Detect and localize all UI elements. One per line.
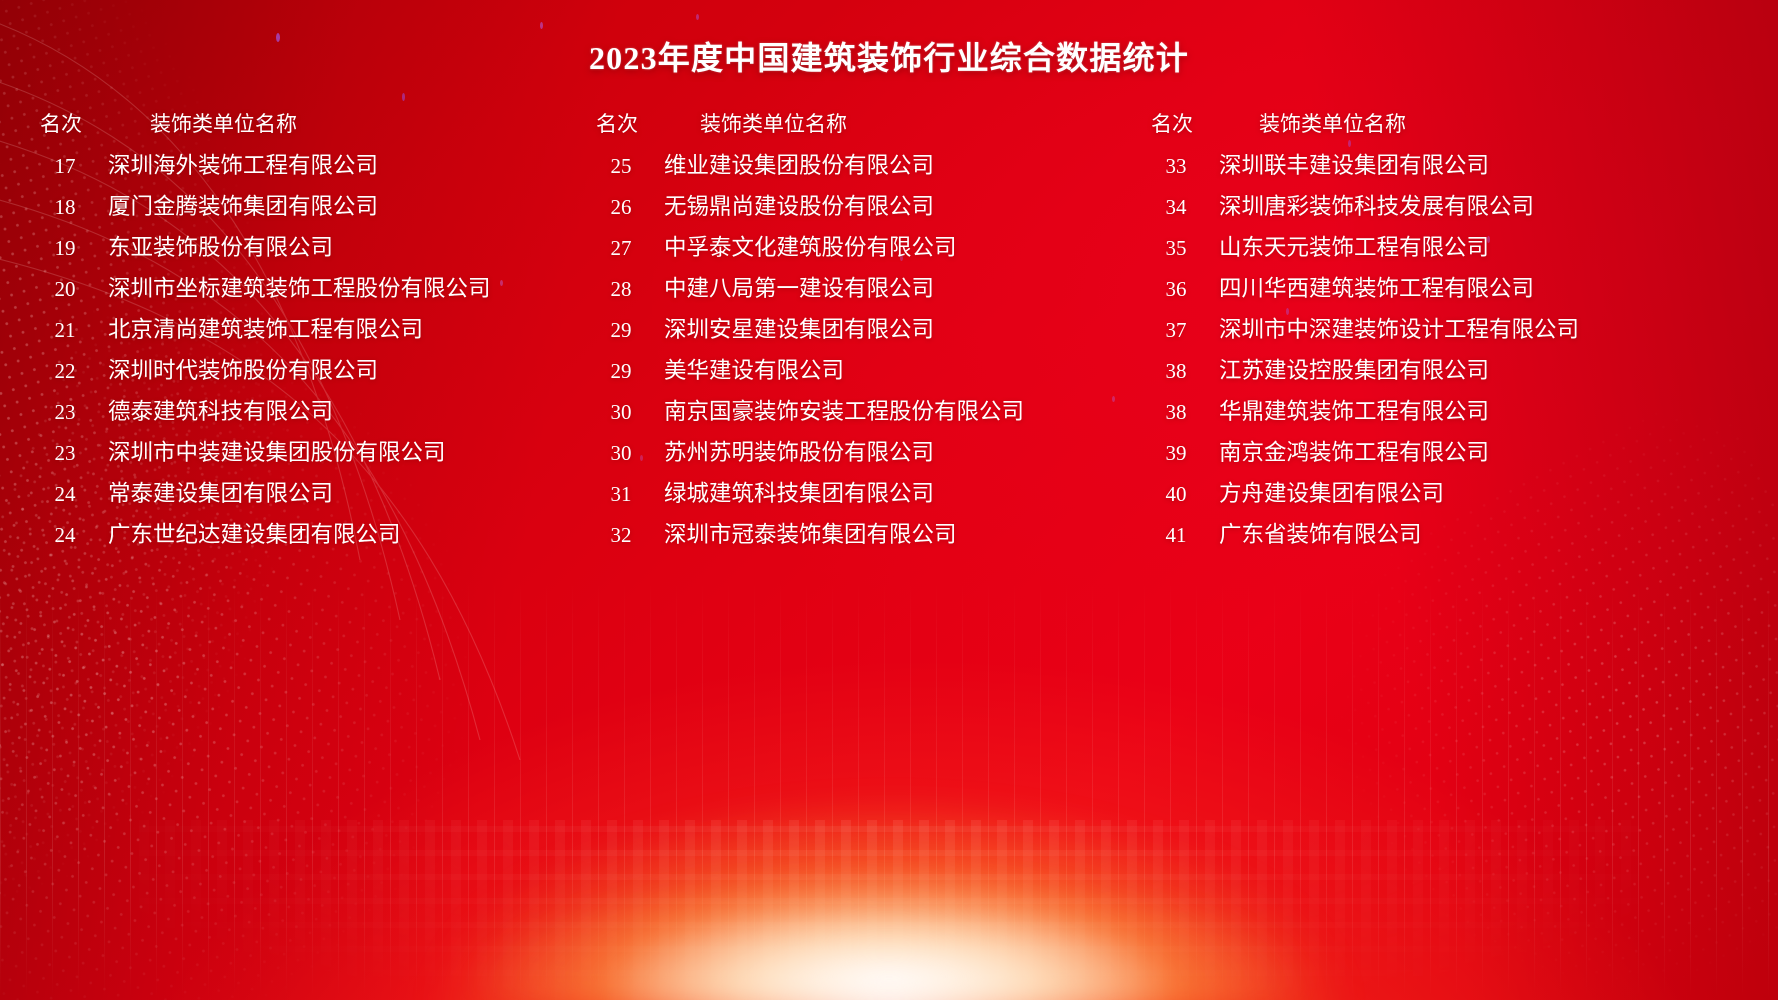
company-name: 方舟建设集团有限公司	[1219, 476, 1760, 508]
rank-value: 27	[590, 236, 664, 261]
rank-value: 23	[34, 400, 108, 425]
ranking-column-1: 名次 装饰类单位名称 17 深圳海外装饰工程有限公司 18 厦门金腾装饰集团有限…	[0, 108, 560, 558]
table-row: 23 深圳市中装建设集团股份有限公司	[34, 435, 560, 476]
rank-value: 18	[34, 195, 108, 220]
company-name: 深圳市中装建设集团股份有限公司	[108, 435, 560, 467]
rank-value: 20	[34, 277, 108, 302]
rank-value: 39	[1145, 441, 1219, 466]
table-row: 29 美华建设有限公司	[590, 353, 1120, 394]
table-row: 20 深圳市坐标建筑装饰工程股份有限公司	[34, 271, 560, 312]
rank-value: 32	[590, 523, 664, 548]
column-2-header: 名次 装饰类单位名称	[590, 108, 1120, 138]
column-3-header-rank: 名次	[1145, 108, 1219, 138]
company-name: 德泰建筑科技有限公司	[108, 394, 560, 426]
ranking-column-2: 名次 装饰类单位名称 25 维业建设集团股份有限公司 26 无锡鼎尚建设股份有限…	[560, 108, 1120, 558]
rank-value: 22	[34, 359, 108, 384]
table-row: 37 深圳市中深建装饰设计工程有限公司	[1145, 312, 1760, 353]
rank-value: 29	[590, 359, 664, 384]
rank-value: 30	[590, 441, 664, 466]
company-name: 绿城建筑科技集团有限公司	[664, 476, 1120, 508]
table-row: 24 广东世纪达建设集团有限公司	[34, 517, 560, 558]
table-row: 30 苏州苏明装饰股份有限公司	[590, 435, 1120, 476]
rank-value: 30	[590, 400, 664, 425]
company-name: 北京清尚建筑装饰工程有限公司	[108, 312, 560, 344]
table-row: 38 江苏建设控股集团有限公司	[1145, 353, 1760, 394]
table-row: 28 中建八局第一建设有限公司	[590, 271, 1120, 312]
rank-value: 33	[1145, 154, 1219, 179]
rank-value: 24	[34, 523, 108, 548]
rank-value: 31	[590, 482, 664, 507]
table-row: 17 深圳海外装饰工程有限公司	[34, 148, 560, 189]
company-name: 深圳海外装饰工程有限公司	[108, 148, 560, 180]
table-row: 25 维业建设集团股份有限公司	[590, 148, 1120, 189]
table-row: 26 无锡鼎尚建设股份有限公司	[590, 189, 1120, 230]
column-1-header-rank: 名次	[34, 108, 108, 138]
column-1-header-name: 装饰类单位名称	[108, 108, 560, 138]
company-name: 厦门金腾装饰集团有限公司	[108, 189, 560, 221]
rank-value: 34	[1145, 195, 1219, 220]
company-name: 中孚泰文化建筑股份有限公司	[664, 230, 1120, 262]
column-2-header-name: 装饰类单位名称	[664, 108, 1120, 138]
company-name: 广东省装饰有限公司	[1219, 517, 1760, 549]
rank-value: 25	[590, 154, 664, 179]
company-name: 深圳市坐标建筑装饰工程股份有限公司	[108, 271, 560, 303]
table-row: 35 山东天元装饰工程有限公司	[1145, 230, 1760, 271]
rank-value: 19	[34, 236, 108, 261]
table-row: 18 厦门金腾装饰集团有限公司	[34, 189, 560, 230]
table-row: 30 南京国豪装饰安装工程股份有限公司	[590, 394, 1120, 435]
rank-value: 26	[590, 195, 664, 220]
rank-value: 28	[590, 277, 664, 302]
ranking-column-3: 名次 装饰类单位名称 33 深圳联丰建设集团有限公司 34 深圳唐彩装饰科技发展…	[1120, 108, 1760, 558]
company-name: 南京金鸿装饰工程有限公司	[1219, 435, 1760, 467]
company-name: 江苏建设控股集团有限公司	[1219, 353, 1760, 385]
company-name: 广东世纪达建设集团有限公司	[108, 517, 560, 549]
rank-value: 38	[1145, 359, 1219, 384]
company-name: 深圳唐彩装饰科技发展有限公司	[1219, 189, 1760, 221]
table-row: 23 德泰建筑科技有限公司	[34, 394, 560, 435]
rank-value: 35	[1145, 236, 1219, 261]
company-name: 四川华西建筑装饰工程有限公司	[1219, 271, 1760, 303]
company-name: 维业建设集团股份有限公司	[664, 148, 1120, 180]
company-name: 无锡鼎尚建设股份有限公司	[664, 189, 1120, 221]
table-row: 29 深圳安星建设集团有限公司	[590, 312, 1120, 353]
company-name: 东亚装饰股份有限公司	[108, 230, 560, 262]
rank-value: 24	[34, 482, 108, 507]
company-name: 深圳市中深建装饰设计工程有限公司	[1219, 312, 1760, 344]
table-row: 31 绿城建筑科技集团有限公司	[590, 476, 1120, 517]
company-name: 华鼎建筑装饰工程有限公司	[1219, 394, 1760, 426]
table-row: 27 中孚泰文化建筑股份有限公司	[590, 230, 1120, 271]
column-1-header: 名次 装饰类单位名称	[34, 108, 560, 138]
company-name: 南京国豪装饰安装工程股份有限公司	[664, 394, 1120, 426]
column-2-header-rank: 名次	[590, 108, 664, 138]
table-row: 19 东亚装饰股份有限公司	[34, 230, 560, 271]
rank-value: 38	[1145, 400, 1219, 425]
rank-value: 37	[1145, 318, 1219, 343]
company-name: 中建八局第一建设有限公司	[664, 271, 1120, 303]
rank-value: 21	[34, 318, 108, 343]
company-name: 常泰建设集团有限公司	[108, 476, 560, 508]
rank-value: 29	[590, 318, 664, 343]
rank-value: 23	[34, 441, 108, 466]
company-name: 山东天元装饰工程有限公司	[1219, 230, 1760, 262]
table-row: 38 华鼎建筑装饰工程有限公司	[1145, 394, 1760, 435]
company-name: 深圳联丰建设集团有限公司	[1219, 148, 1760, 180]
rank-value: 40	[1145, 482, 1219, 507]
rank-value: 17	[34, 154, 108, 179]
company-name: 深圳安星建设集团有限公司	[664, 312, 1120, 344]
table-row: 34 深圳唐彩装饰科技发展有限公司	[1145, 189, 1760, 230]
table-row: 32 深圳市冠泰装饰集团有限公司	[590, 517, 1120, 558]
page-title: 2023年度中国建筑装饰行业综合数据统计	[0, 33, 1778, 79]
table-row: 41 广东省装饰有限公司	[1145, 517, 1760, 558]
rank-value: 36	[1145, 277, 1219, 302]
column-3-header-name: 装饰类单位名称	[1219, 108, 1760, 138]
table-row: 33 深圳联丰建设集团有限公司	[1145, 148, 1760, 189]
table-row: 22 深圳时代装饰股份有限公司	[34, 353, 560, 394]
table-row: 39 南京金鸿装饰工程有限公司	[1145, 435, 1760, 476]
company-name: 苏州苏明装饰股份有限公司	[664, 435, 1120, 467]
company-name: 美华建设有限公司	[664, 353, 1120, 385]
column-3-header: 名次 装饰类单位名称	[1145, 108, 1760, 138]
table-row: 24 常泰建设集团有限公司	[34, 476, 560, 517]
table-row: 40 方舟建设集团有限公司	[1145, 476, 1760, 517]
rank-value: 41	[1145, 523, 1219, 548]
company-name: 深圳市冠泰装饰集团有限公司	[664, 517, 1120, 549]
table-row: 21 北京清尚建筑装饰工程有限公司	[34, 312, 560, 353]
company-name: 深圳时代装饰股份有限公司	[108, 353, 560, 385]
table-row: 36 四川华西建筑装饰工程有限公司	[1145, 271, 1760, 312]
ranking-table: 名次 装饰类单位名称 17 深圳海外装饰工程有限公司 18 厦门金腾装饰集团有限…	[0, 108, 1778, 558]
